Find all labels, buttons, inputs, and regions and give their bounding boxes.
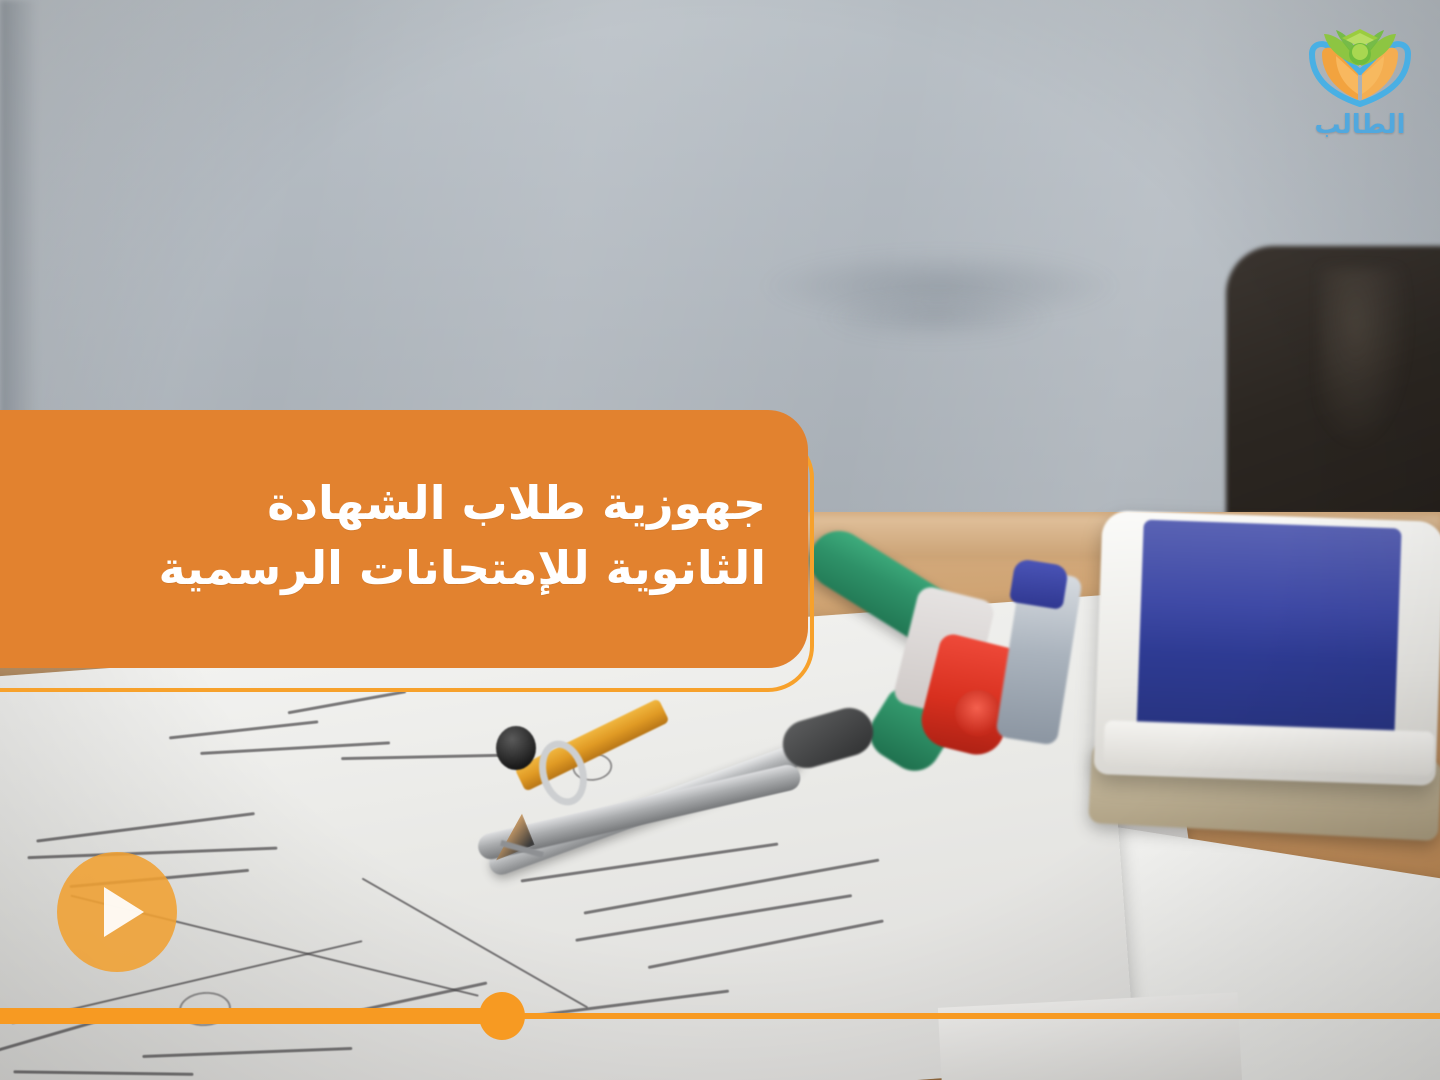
brand-logo-icon [1302,22,1418,114]
progress-fill [0,1008,502,1024]
brand-name-text: الطالب [1302,112,1418,138]
progress-scrubber-handle[interactable] [479,992,525,1040]
play-button[interactable] [57,852,177,972]
video-frame: جهوزية طلاب الشهادة الثانوية للإمتحانات … [0,0,1440,1080]
play-triangle-icon [104,887,144,937]
title-line-2: الثانوية للإمتحانات الرسمية [159,536,766,601]
brand-watermark: الطالب [1302,22,1418,150]
title-banner: جهوزية طلاب الشهادة الثانوية للإمتحانات … [0,410,808,668]
title-line-1: جهوزية طلاب الشهادة [267,471,766,536]
